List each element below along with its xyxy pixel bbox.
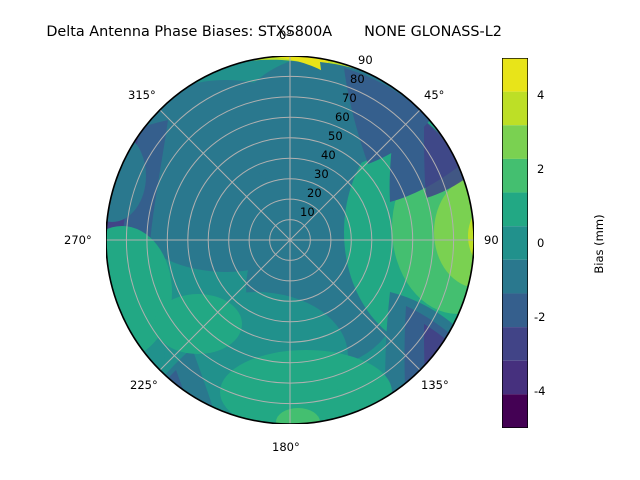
- cbar-band-4: [502, 260, 528, 294]
- colorbar: [502, 58, 528, 428]
- colorbar-axis-label: Bias (mm): [592, 64, 612, 184]
- cbar-band-3: [502, 293, 528, 327]
- contour-band-pos05-swi: [154, 294, 242, 354]
- r-tick-30: 30: [314, 167, 329, 181]
- theta-tick-315: 315°: [128, 88, 156, 102]
- colorbar-svg: [502, 58, 528, 428]
- polar-contour-svg: [106, 56, 474, 424]
- r-tick-10: 10: [300, 205, 315, 219]
- theta-tick-180: 180°: [272, 440, 300, 454]
- r-tick-80: 80: [350, 72, 365, 86]
- polar-grid: [106, 56, 474, 424]
- theta-tick-225: 225°: [130, 378, 158, 392]
- cbar-band-5: [502, 226, 528, 260]
- cbar-tick-0: 0: [537, 236, 544, 250]
- r-tick-60: 60: [335, 110, 350, 124]
- r-tick-40: 40: [321, 148, 336, 162]
- theta-tick-45: 45°: [424, 88, 444, 102]
- r-tick-50: 50: [328, 129, 343, 143]
- r-tick-20: 20: [307, 186, 322, 200]
- figure-canvas: Delta Antenna Phase Biases: STXS800A NON…: [0, 0, 640, 480]
- colorbar-bands: [502, 58, 528, 428]
- cbar-band-7: [502, 159, 528, 193]
- page-title: Delta Antenna Phase Biases: STXS800A NON…: [46, 24, 502, 40]
- cbar-band-0: [502, 394, 528, 428]
- r-tick-90: 90: [358, 53, 373, 67]
- colorbar-axis-label-text: Bias (mm): [592, 184, 606, 304]
- theta-tick-0: 0°: [279, 28, 292, 42]
- cbar-band-9: [502, 92, 528, 126]
- cbar-tick-neg2: -2: [534, 310, 545, 324]
- theta-tick-270: 270°: [64, 233, 92, 247]
- cbar-band-6: [502, 193, 528, 227]
- r-tick-70: 70: [342, 91, 357, 105]
- cbar-tick-2: 2: [537, 162, 544, 176]
- theta-tick-90: 90: [484, 233, 499, 247]
- cbar-tick-4: 4: [537, 88, 544, 102]
- contour-band-neg28-se: [424, 324, 474, 408]
- cbar-band-2: [502, 327, 528, 361]
- polar-plot: [106, 56, 474, 424]
- cbar-band-8: [502, 125, 528, 159]
- cbar-band-10: [502, 58, 528, 92]
- theta-tick-135: 135°: [421, 378, 449, 392]
- cbar-band-1: [502, 361, 528, 395]
- figure-title-row: Delta Antenna Phase Biases: STXS800A NON…: [0, 8, 640, 56]
- cbar-tick-neg4: -4: [534, 384, 545, 398]
